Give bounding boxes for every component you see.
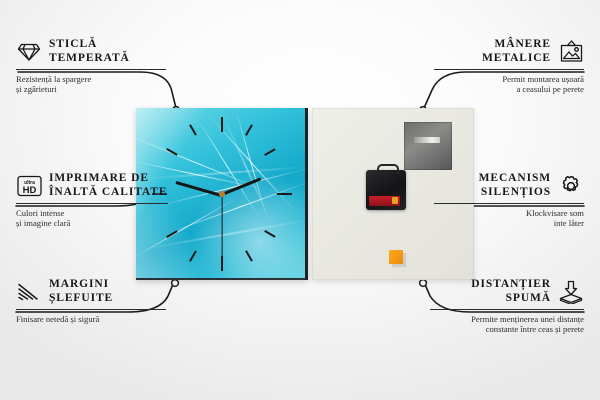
- feature-divider: [16, 203, 168, 204]
- product-infographic: STICLĂ TEMPERATĂ Rezistență la spargere …: [0, 0, 600, 400]
- feature-sub-line2: și zgârieturi: [16, 84, 57, 94]
- clock-mechanism-black: [366, 170, 406, 210]
- feature-divider: [16, 309, 166, 310]
- feature-sub-line2: și imagine clară: [16, 218, 70, 228]
- feature-foam-spacer: DISTANȚIER SPUMĂ Permite menținerea unei…: [430, 278, 584, 335]
- feature-title-line1: STICLĂ: [49, 38, 97, 50]
- foam-spacer-orange: [389, 250, 403, 264]
- feature-tempered-glass: STICLĂ TEMPERATĂ Rezistență la spargere …: [16, 38, 166, 95]
- feature-title-line2: SPUMĂ: [506, 292, 551, 304]
- feature-title-line1: MECANISM: [479, 172, 551, 184]
- feature-title-line1: MÂNERE: [494, 38, 551, 50]
- feature-title-line2: METALICE: [482, 52, 551, 64]
- feature-title-line1: DISTANȚIER: [471, 278, 551, 290]
- feature-title-line2: TEMPERATĂ: [49, 52, 130, 64]
- hour-marker: [264, 148, 275, 155]
- gear-icon: [558, 174, 584, 198]
- connector-dot-edges: [172, 280, 179, 287]
- hour-marker: [221, 117, 223, 132]
- feature-high-quality-print: ultra HD IMPRIMARE DE ÎNALTĂ CALITATE Cu…: [16, 172, 168, 229]
- feature-divider: [434, 69, 584, 70]
- feature-divider: [430, 309, 584, 310]
- ultra-hd-icon: ultra HD: [16, 174, 42, 198]
- connector-dot-spacer: [420, 280, 427, 287]
- feature-sub-line1: Culori intense: [16, 208, 64, 218]
- feature-silent-mechanism: MECANISM SILENȚIOS Klockvisare som inte …: [434, 172, 584, 229]
- feature-divider: [16, 69, 166, 70]
- mechanism-hanger-hook: [377, 164, 399, 174]
- feature-sub-line1: Klockvisare som: [526, 208, 584, 218]
- feature-title-line1: IMPRIMARE DE: [49, 172, 149, 184]
- svg-text:HD: HD: [22, 185, 36, 196]
- feature-sub-line1: Rezistență la spargere: [16, 74, 91, 84]
- feature-title-line2: ȘLEFUITE: [49, 292, 113, 304]
- hour-marker: [245, 250, 252, 261]
- feature-divider: [434, 203, 584, 204]
- metal-hanger-plate: [404, 122, 452, 170]
- aa-battery-red: [369, 196, 400, 206]
- hour-marker: [277, 193, 292, 195]
- hour-marker: [189, 124, 196, 135]
- hanging-frame-icon: [558, 40, 584, 64]
- feature-sub-line1: Permit montarea ușoară: [502, 74, 584, 84]
- foam-spacer-icon: [558, 280, 584, 304]
- polished-edges-icon: [16, 280, 42, 304]
- hour-marker: [245, 124, 252, 135]
- feature-polished-edges: MARGINI ȘLEFUITE Finisare netedă și sigu…: [16, 278, 166, 324]
- feature-sub-line2: a ceasului pe perete: [516, 84, 584, 94]
- feature-sub-line1: Finisare netedă și sigură: [16, 314, 99, 324]
- battery-plus-terminal: [392, 197, 398, 204]
- hour-marker: [189, 250, 196, 261]
- feature-sub-line1: Permite menținerea unei distanțe: [471, 314, 584, 324]
- product-image: [136, 108, 474, 280]
- feature-metal-handles: MÂNERE METALICE Permit montarea ușoară a…: [434, 38, 584, 95]
- hour-marker: [264, 230, 275, 237]
- second-hand: [221, 195, 222, 261]
- feature-title-line2: SILENȚIOS: [481, 186, 551, 198]
- feature-sub-line2: inte låter: [554, 218, 584, 228]
- feature-sub-line2: constante între ceas și perete: [486, 324, 584, 334]
- feature-title-line2: ÎNALTĂ CALITATE: [49, 186, 167, 198]
- diamond-icon: [16, 40, 42, 64]
- feature-title-line1: MARGINI: [49, 278, 109, 290]
- hanger-slot: [414, 137, 440, 143]
